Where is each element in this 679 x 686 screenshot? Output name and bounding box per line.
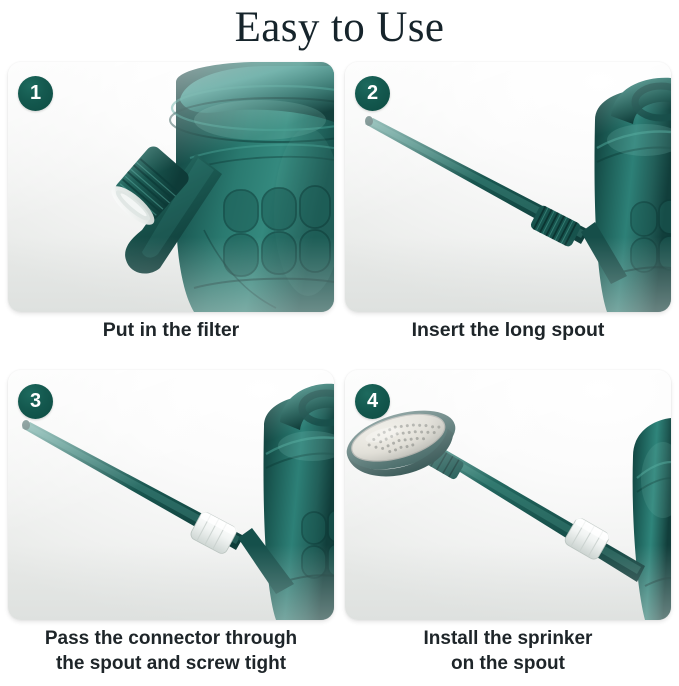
step-card-1: 1 Put in the filter [8,62,338,362]
watering-can-illustration-3 [8,370,334,620]
infographic-page: Easy to Use [0,0,679,686]
watering-can-illustration-1 [8,62,334,312]
step-badge-1: 1 [18,76,53,111]
step-image-2: 2 [345,62,671,312]
step-caption-2: Insert the long spout [345,318,671,343]
watering-can-illustration-2 [345,62,671,312]
step-image-4: 4 [345,370,671,620]
step-caption-1: Put in the filter [8,318,334,343]
step-badge-4: 4 [355,384,390,419]
step-caption-4: Install the sprinker on the spout [345,626,671,676]
step-card-4: 4 Install the sprinker on the spout [345,370,675,670]
steps-grid: 1 Put in the filter [0,62,679,686]
step-card-2: 2 Insert the long spout [345,62,675,362]
step-badge-3: 3 [18,384,53,419]
step-image-1: 1 [8,62,334,312]
watering-can-illustration-4 [345,370,671,620]
step-image-3: 3 [8,370,334,620]
page-title: Easy to Use [0,2,679,54]
step-badge-2: 2 [355,76,390,111]
step-card-3: 3 Pass the connector through the spout a… [8,370,338,670]
step-caption-3: Pass the connector through the spout and… [8,626,334,676]
